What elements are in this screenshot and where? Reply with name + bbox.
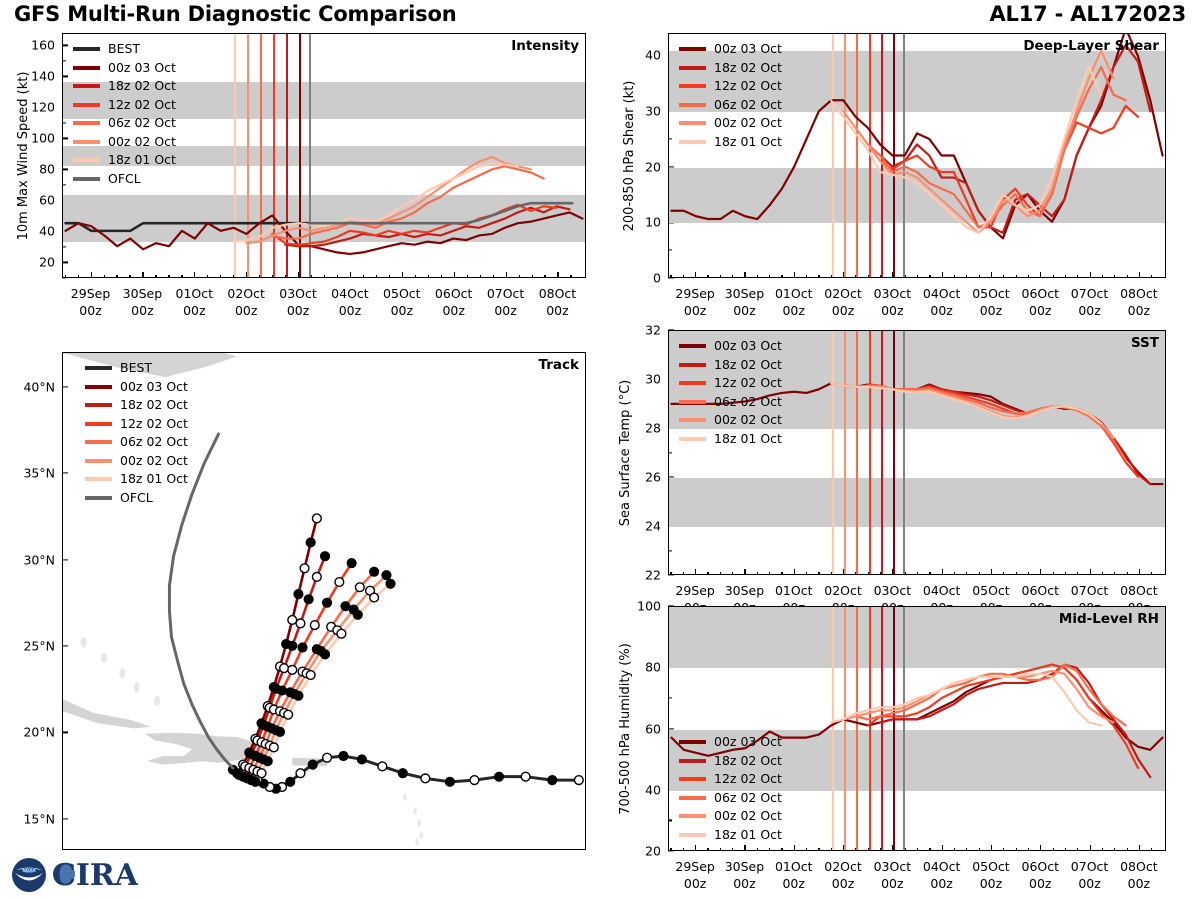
x-tick-label: 30Sep00z bbox=[725, 286, 764, 320]
legend-item: 00z 02 Oct bbox=[679, 114, 782, 133]
x-tick-day: 30Sep bbox=[725, 286, 764, 303]
x-tick-day: 03Oct bbox=[279, 286, 317, 303]
track-title: Track bbox=[539, 357, 579, 373]
track-marker-open bbox=[335, 578, 344, 587]
legend-label: 18z 02 Oct bbox=[108, 80, 176, 93]
track-marker-filled bbox=[353, 610, 362, 619]
x-tick-hour: 00z bbox=[775, 876, 813, 893]
track-marker-open bbox=[310, 621, 319, 630]
y-tick-label: 140 bbox=[31, 69, 55, 84]
sst-ylabel: Sea Surface Temp (°C) bbox=[618, 379, 633, 526]
track-marker-filled bbox=[278, 686, 287, 695]
legend-swatch bbox=[73, 47, 100, 51]
x-tick-day: 08Oct bbox=[539, 286, 577, 303]
legend-swatch bbox=[679, 796, 706, 800]
track-marker-open bbox=[521, 772, 530, 781]
x-tick-label: 02Oct00z bbox=[227, 286, 265, 320]
legend-label: BEST bbox=[108, 43, 140, 56]
shear-legend: 00z 03 Oct18z 02 Oct12z 02 Oct06z 02 Oct… bbox=[679, 40, 782, 151]
y-tick-label: 20 bbox=[39, 255, 55, 270]
legend-swatch bbox=[679, 84, 706, 88]
x-tick-hour: 00z bbox=[279, 303, 317, 320]
series-line bbox=[868, 106, 1138, 228]
x-tick-hour: 00z bbox=[874, 876, 912, 893]
series-line bbox=[868, 384, 1138, 476]
legend-item: 00z 03 Oct bbox=[85, 378, 188, 397]
x-tick-label: 05Oct00z bbox=[972, 286, 1010, 320]
track-marker-open bbox=[378, 762, 387, 771]
track-marker-open bbox=[355, 583, 364, 592]
page-title-left: GFS Multi-Run Diagnostic Comparison bbox=[14, 2, 456, 26]
legend-swatch bbox=[679, 418, 706, 422]
x-tick-label: 29Sep00z bbox=[675, 286, 714, 320]
legend-item: BEST bbox=[73, 40, 176, 59]
y-tick-label: 20 bbox=[645, 159, 661, 174]
legend-label: 06z 02 Oct bbox=[714, 396, 782, 409]
x-tick-hour: 00z bbox=[71, 303, 110, 320]
x-tick-label: 04Oct00z bbox=[331, 286, 369, 320]
track-marker-filled bbox=[321, 552, 330, 561]
track-marker-filled bbox=[382, 571, 391, 580]
y-tick-label: 24 bbox=[645, 519, 661, 534]
x-tick-hour: 00z bbox=[874, 303, 912, 320]
shear-ylabel: 200-850 hPa Shear (kt) bbox=[622, 80, 637, 231]
track-marker-filled bbox=[306, 538, 315, 547]
x-tick-day: 29Sep bbox=[675, 583, 714, 600]
legend-swatch bbox=[679, 140, 706, 144]
legend-label: 18z 01 Oct bbox=[108, 154, 176, 167]
legend-swatch bbox=[679, 47, 706, 51]
x-tick-label: 03Oct00z bbox=[874, 859, 912, 893]
legend-item: 00z 02 Oct bbox=[679, 807, 782, 826]
legend-item: 00z 02 Oct bbox=[73, 133, 176, 152]
x-tick-day: 02Oct bbox=[824, 286, 862, 303]
x-tick-hour: 00z bbox=[1022, 876, 1060, 893]
legend-item: 12z 02 Oct bbox=[679, 770, 782, 789]
x-tick-hour: 00z bbox=[1120, 303, 1158, 320]
panel-shear: Deep-Layer Shear 00z 03 Oct18z 02 Oct12z… bbox=[668, 33, 1166, 278]
x-tick-label: 30Sep00z bbox=[123, 286, 162, 320]
track-marker-filled bbox=[341, 602, 350, 611]
x-tick-label: 05Oct00z bbox=[972, 859, 1010, 893]
legend-swatch bbox=[679, 103, 706, 107]
y-tick-label: 100 bbox=[637, 599, 661, 614]
legend-label: OFCL bbox=[108, 173, 141, 186]
legend-label: 06z 02 Oct bbox=[714, 792, 782, 805]
x-tick-day: 30Sep bbox=[123, 286, 162, 303]
x-tick-day: 06Oct bbox=[1022, 583, 1060, 600]
track-marker-open bbox=[288, 616, 297, 625]
panel-intensity: Intensity BEST00z 03 Oct18z 02 Oct12z 02… bbox=[62, 33, 586, 278]
x-tick-day: 07Oct bbox=[1071, 583, 1109, 600]
legend-swatch bbox=[679, 344, 706, 348]
x-tick-day: 04Oct bbox=[923, 286, 961, 303]
legend-item: 06z 02 Oct bbox=[679, 789, 782, 808]
rh-title: Mid-Level RH bbox=[1059, 611, 1159, 627]
y-tick-label: 25°N bbox=[23, 638, 55, 653]
legend-label: 18z 01 Oct bbox=[714, 136, 782, 149]
series-line bbox=[868, 665, 1138, 768]
x-tick-day: 07Oct bbox=[1071, 286, 1109, 303]
legend-item: 18z 02 Oct bbox=[679, 356, 782, 375]
x-tick-label: 06Oct00z bbox=[1022, 286, 1060, 320]
x-tick-label: 02Oct00z bbox=[824, 286, 862, 320]
x-tick-hour: 00z bbox=[227, 303, 265, 320]
legend-item: 06z 02 Oct bbox=[679, 96, 782, 115]
legend-label: 00z 03 Oct bbox=[120, 381, 188, 394]
x-tick-hour: 00z bbox=[923, 303, 961, 320]
x-tick-hour: 00z bbox=[1071, 303, 1109, 320]
track-marker-filled bbox=[251, 777, 260, 786]
legend-item: 12z 02 Oct bbox=[73, 96, 176, 115]
x-tick-hour: 00z bbox=[923, 876, 961, 893]
y-tick-label: 10 bbox=[645, 215, 661, 230]
intensity-title: Intensity bbox=[511, 38, 579, 54]
legend-swatch bbox=[679, 777, 706, 781]
x-tick-label: 06Oct00z bbox=[435, 286, 473, 320]
legend-item: BEST bbox=[85, 359, 188, 378]
x-tick-hour: 00z bbox=[1071, 876, 1109, 893]
rh-ylabel: 700-500 hPa Humidity (%) bbox=[618, 643, 633, 815]
y-tick-label: 40 bbox=[39, 224, 55, 239]
track-marker-filled bbox=[495, 772, 504, 781]
legend-item: 18z 02 Oct bbox=[679, 752, 782, 771]
legend-item: 18z 01 Oct bbox=[679, 133, 782, 152]
panel-track: Track BEST00z 03 Oct18z 02 Oct12z 02 Oct… bbox=[62, 352, 586, 850]
x-tick-day: 01Oct bbox=[775, 859, 813, 876]
x-tick-day: 01Oct bbox=[775, 583, 813, 600]
x-tick-label: 08Oct00z bbox=[1120, 286, 1158, 320]
track-plot-area[interactable]: Track BEST00z 03 Oct18z 02 Oct12z 02 Oct… bbox=[62, 352, 586, 850]
legend-label: 18z 02 Oct bbox=[714, 755, 782, 768]
legend-item: 18z 01 Oct bbox=[679, 430, 782, 449]
legend-item: 06z 02 Oct bbox=[73, 114, 176, 133]
series-line bbox=[843, 384, 1113, 437]
x-tick-day: 05Oct bbox=[972, 859, 1010, 876]
x-tick-hour: 00z bbox=[675, 876, 714, 893]
x-tick-hour: 00z bbox=[331, 303, 369, 320]
track-marker-open bbox=[280, 664, 289, 673]
y-tick-label: 100 bbox=[31, 131, 55, 146]
y-tick-label: 60 bbox=[39, 193, 55, 208]
track-marker-filled bbox=[294, 691, 303, 700]
track-marker-filled bbox=[294, 590, 303, 599]
x-tick-hour: 00z bbox=[725, 876, 764, 893]
legend-swatch bbox=[85, 440, 112, 444]
legend-label: 00z 03 Oct bbox=[714, 43, 782, 56]
y-tick-label: 40 bbox=[645, 48, 661, 63]
svg-text:NOAA: NOAA bbox=[22, 868, 36, 874]
x-tick-day: 06Oct bbox=[435, 286, 473, 303]
x-tick-day: 02Oct bbox=[824, 583, 862, 600]
legend-label: 00z 02 Oct bbox=[714, 117, 782, 130]
shear-title: Deep-Layer Shear bbox=[1023, 38, 1159, 54]
y-tick-label: 40°N bbox=[23, 379, 55, 394]
x-tick-day: 05Oct bbox=[972, 286, 1010, 303]
x-tick-hour: 00z bbox=[675, 303, 714, 320]
x-tick-hour: 00z bbox=[725, 303, 764, 320]
track-marker-filled bbox=[386, 579, 395, 588]
legend-item: 00z 03 Oct bbox=[679, 733, 782, 752]
x-tick-hour: 00z bbox=[487, 303, 525, 320]
x-tick-label: 01Oct00z bbox=[176, 286, 214, 320]
legend-swatch bbox=[73, 121, 100, 125]
x-tick-day: 03Oct bbox=[874, 859, 912, 876]
track-marker-open bbox=[470, 776, 479, 785]
x-tick-hour: 00z bbox=[972, 876, 1010, 893]
x-tick-day: 01Oct bbox=[176, 286, 214, 303]
x-tick-day: 03Oct bbox=[874, 583, 912, 600]
legend-swatch bbox=[679, 740, 706, 744]
y-tick-label: 30 bbox=[645, 372, 661, 387]
legend-label: 00z 02 Oct bbox=[108, 136, 176, 149]
y-tick-label: 20°N bbox=[23, 725, 55, 740]
y-tick-label: 160 bbox=[31, 38, 55, 53]
x-tick-label: 07Oct00z bbox=[487, 286, 525, 320]
legend-swatch bbox=[85, 385, 112, 389]
legend-label: 18z 02 Oct bbox=[120, 399, 188, 412]
x-tick-label: 08Oct00z bbox=[539, 286, 577, 320]
track-marker-filled bbox=[304, 595, 313, 604]
legend-item: 12z 02 Oct bbox=[679, 374, 782, 393]
y-tick-label: 120 bbox=[31, 100, 55, 115]
legend-label: 00z 03 Oct bbox=[714, 340, 782, 353]
legend-swatch bbox=[85, 496, 112, 500]
x-tick-day: 08Oct bbox=[1120, 583, 1158, 600]
cira-text: CIRA bbox=[52, 858, 138, 893]
track-marker-open bbox=[288, 666, 297, 675]
x-tick-hour: 00z bbox=[383, 303, 421, 320]
x-tick-day: 08Oct bbox=[1120, 859, 1158, 876]
x-tick-label: 07Oct00z bbox=[1071, 286, 1109, 320]
x-tick-label: 02Oct00z bbox=[824, 859, 862, 893]
legend-label: 00z 02 Oct bbox=[120, 455, 188, 468]
track-marker-filled bbox=[298, 643, 307, 652]
sst-title: SST bbox=[1131, 335, 1159, 351]
x-tick-day: 06Oct bbox=[1022, 286, 1060, 303]
legend-label: 18z 01 Oct bbox=[714, 829, 782, 842]
track-marker-filled bbox=[288, 641, 297, 650]
track-marker-open bbox=[300, 564, 309, 573]
shear-plot-area[interactable]: Deep-Layer Shear 00z 03 Oct18z 02 Oct12z… bbox=[668, 33, 1166, 278]
x-tick-hour: 00z bbox=[972, 303, 1010, 320]
y-tick-label: 26 bbox=[645, 470, 661, 485]
x-tick-label: 05Oct00z bbox=[383, 286, 421, 320]
legend-label: OFCL bbox=[120, 492, 153, 505]
legend-swatch bbox=[85, 477, 112, 481]
track-marker-open bbox=[312, 573, 321, 582]
track-marker-filled bbox=[446, 777, 455, 786]
legend-swatch bbox=[73, 140, 100, 144]
legend-item: 12z 02 Oct bbox=[85, 415, 188, 434]
track-marker-open bbox=[323, 753, 332, 762]
track-marker-filled bbox=[370, 567, 379, 576]
x-tick-day: 29Sep bbox=[71, 286, 110, 303]
panel-rh: Mid-Level RH 00z 03 Oct18z 02 Oct12z 02 … bbox=[668, 606, 1166, 851]
x-tick-day: 29Sep bbox=[675, 286, 714, 303]
x-tick-hour: 00z bbox=[435, 303, 473, 320]
legend-item: 00z 03 Oct bbox=[73, 59, 176, 78]
legend-item: OFCL bbox=[85, 489, 188, 508]
x-tick-day: 01Oct bbox=[775, 286, 813, 303]
x-tick-day: 07Oct bbox=[1071, 859, 1109, 876]
legend-swatch bbox=[679, 833, 706, 837]
legend-label: 00z 02 Oct bbox=[714, 810, 782, 823]
track-marker-filled bbox=[321, 650, 330, 659]
page-title-right: AL17 - AL172023 bbox=[989, 2, 1186, 26]
legend-label: 06z 02 Oct bbox=[120, 436, 188, 449]
series-line bbox=[234, 163, 518, 241]
x-tick-hour: 00z bbox=[539, 303, 577, 320]
y-tick-label: 20 bbox=[645, 844, 661, 859]
x-tick-label: 29Sep00z bbox=[675, 859, 714, 893]
rh-plot-area[interactable]: Mid-Level RH 00z 03 Oct18z 02 Oct12z 02 … bbox=[668, 606, 1166, 851]
legend-item: 18z 02 Oct bbox=[85, 396, 188, 415]
track-marker-open bbox=[296, 769, 305, 778]
y-tick-label: 15°N bbox=[23, 811, 55, 826]
legend-swatch bbox=[679, 759, 706, 763]
legend-swatch bbox=[73, 103, 100, 107]
cira-wordmark: CIRA bbox=[52, 858, 138, 893]
legend-swatch bbox=[679, 437, 706, 441]
y-tick-label: 28 bbox=[645, 421, 661, 436]
x-tick-day: 05Oct bbox=[972, 583, 1010, 600]
panel-sst: SST 00z 03 Oct18z 02 Oct12z 02 Oct06z 02… bbox=[668, 330, 1166, 575]
legend-label: 06z 02 Oct bbox=[108, 117, 176, 130]
rh-legend: 00z 03 Oct18z 02 Oct12z 02 Oct06z 02 Oct… bbox=[679, 733, 782, 844]
legend-label: 00z 02 Oct bbox=[714, 414, 782, 427]
legend-label: 00z 03 Oct bbox=[108, 62, 176, 75]
track-marker-open bbox=[370, 593, 379, 602]
x-tick-day: 04Oct bbox=[923, 583, 961, 600]
track-marker-filled bbox=[398, 769, 407, 778]
sst-plot-area[interactable]: SST 00z 03 Oct18z 02 Oct12z 02 Oct06z 02… bbox=[668, 330, 1166, 575]
x-tick-day: 06Oct bbox=[1022, 859, 1060, 876]
x-tick-hour: 00z bbox=[824, 303, 862, 320]
legend-swatch bbox=[73, 84, 100, 88]
x-tick-day: 04Oct bbox=[923, 859, 961, 876]
x-tick-label: 08Oct00z bbox=[1120, 859, 1158, 893]
track-marker-filled bbox=[323, 598, 332, 607]
legend-item: 00z 03 Oct bbox=[679, 337, 782, 356]
legend-item: 12z 02 Oct bbox=[679, 77, 782, 96]
legend-swatch bbox=[85, 422, 112, 426]
legend-item: 18z 01 Oct bbox=[85, 470, 188, 489]
y-tick-label: 0 bbox=[653, 271, 661, 286]
x-tick-label: 30Sep00z bbox=[725, 859, 764, 893]
legend-swatch bbox=[85, 366, 112, 370]
x-tick-day: 02Oct bbox=[824, 859, 862, 876]
y-tick-label: 35°N bbox=[23, 466, 55, 481]
series-line bbox=[831, 383, 1101, 423]
legend-item: OFCL bbox=[73, 170, 176, 189]
legend-label: 12z 02 Oct bbox=[714, 377, 782, 390]
x-tick-day: 04Oct bbox=[331, 286, 369, 303]
legend-item: 00z 03 Oct bbox=[679, 40, 782, 59]
x-tick-label: 03Oct00z bbox=[279, 286, 317, 320]
legend-item: 00z 02 Oct bbox=[85, 452, 188, 471]
legend-item: 06z 02 Oct bbox=[679, 393, 782, 412]
legend-swatch bbox=[679, 121, 706, 125]
legend-swatch bbox=[679, 814, 706, 818]
legend-label: 06z 02 Oct bbox=[714, 99, 782, 112]
legend-item: 18z 01 Oct bbox=[679, 826, 782, 845]
x-tick-hour: 00z bbox=[123, 303, 162, 320]
legend-label: 18z 02 Oct bbox=[714, 359, 782, 372]
x-tick-day: 08Oct bbox=[1120, 286, 1158, 303]
track-marker-filled bbox=[347, 559, 356, 568]
track-marker-filled bbox=[308, 760, 317, 769]
x-tick-day: 03Oct bbox=[874, 286, 912, 303]
y-tick-label: 80 bbox=[39, 162, 55, 177]
track-marker-filled bbox=[548, 776, 557, 785]
x-tick-hour: 00z bbox=[176, 303, 214, 320]
y-tick-label: 32 bbox=[645, 323, 661, 338]
legend-item: 00z 02 Oct bbox=[679, 411, 782, 430]
y-tick-label: 30°N bbox=[23, 552, 55, 567]
legend-item: 18z 01 Oct bbox=[73, 151, 176, 170]
x-tick-hour: 00z bbox=[775, 303, 813, 320]
track-marker-open bbox=[337, 629, 346, 638]
x-tick-day: 29Sep bbox=[675, 859, 714, 876]
track-marker-filled bbox=[339, 752, 348, 761]
intensity-plot-area[interactable]: Intensity BEST00z 03 Oct18z 02 Oct12z 02… bbox=[62, 33, 586, 278]
legend-label: 12z 02 Oct bbox=[714, 773, 782, 786]
legend-item: 18z 02 Oct bbox=[679, 59, 782, 78]
legend-swatch bbox=[679, 66, 706, 70]
x-tick-label: 07Oct00z bbox=[1071, 859, 1109, 893]
x-tick-hour: 00z bbox=[1120, 876, 1158, 893]
track-marker-open bbox=[284, 710, 293, 719]
y-tick-label: 80 bbox=[645, 660, 661, 675]
x-tick-label: 29Sep00z bbox=[71, 286, 110, 320]
cira-logo: NOAA CIRA bbox=[8, 854, 138, 896]
y-tick-label: 22 bbox=[645, 568, 661, 583]
track-marker-open bbox=[574, 776, 583, 785]
intensity-legend: BEST00z 03 Oct18z 02 Oct12z 02 Oct06z 02… bbox=[73, 40, 176, 188]
legend-label: 18z 01 Oct bbox=[714, 433, 782, 446]
y-tick-label: 30 bbox=[645, 103, 661, 118]
intensity-ylabel: 10m Max Wind Speed (kt) bbox=[16, 71, 31, 240]
legend-item: 18z 02 Oct bbox=[73, 77, 176, 96]
legend-label: 12z 02 Oct bbox=[714, 80, 782, 93]
legend-label: 18z 02 Oct bbox=[714, 62, 782, 75]
track-marker-open bbox=[306, 671, 315, 680]
x-tick-hour: 00z bbox=[1022, 303, 1060, 320]
x-tick-label: 03Oct00z bbox=[874, 286, 912, 320]
x-tick-day: 02Oct bbox=[227, 286, 265, 303]
x-tick-hour: 00z bbox=[824, 876, 862, 893]
legend-swatch bbox=[679, 363, 706, 367]
sst-legend: 00z 03 Oct18z 02 Oct12z 02 Oct06z 02 Oct… bbox=[679, 337, 782, 448]
x-tick-label: 01Oct00z bbox=[775, 859, 813, 893]
x-tick-label: 04Oct00z bbox=[923, 286, 961, 320]
track-marker-open bbox=[296, 619, 305, 628]
legend-swatch bbox=[679, 381, 706, 385]
legend-label: 18z 01 Oct bbox=[120, 473, 188, 486]
legend-swatch bbox=[73, 177, 100, 181]
legend-swatch bbox=[73, 66, 100, 70]
track-marker-filled bbox=[286, 777, 295, 786]
legend-swatch bbox=[85, 459, 112, 463]
legend-label: BEST bbox=[120, 362, 152, 375]
track-legend: BEST00z 03 Oct18z 02 Oct12z 02 Oct06z 02… bbox=[85, 359, 188, 507]
noaa-seagull-icon: NOAA bbox=[12, 858, 46, 892]
legend-label: 12z 02 Oct bbox=[120, 418, 188, 431]
track-marker-open bbox=[269, 743, 278, 752]
x-tick-label: 06Oct00z bbox=[1022, 859, 1060, 893]
legend-swatch bbox=[73, 158, 100, 162]
